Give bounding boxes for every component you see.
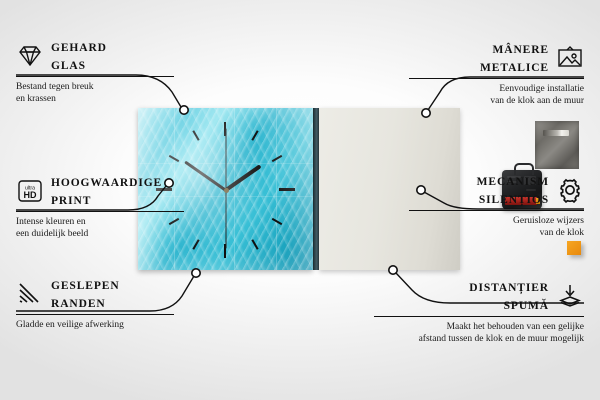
feature-desc-line: Eenvoudige installatie: [409, 83, 584, 95]
feature-desc-line: Gladde en veilige afwerking: [16, 319, 191, 331]
feature-header: DISTANȚIER SPUMĂ: [374, 278, 584, 314]
feature-geslepen-randen[interactable]: GESLEPEN RANDEN Gladde en veilige afwerk…: [16, 276, 191, 331]
feature-desc-line: een duidelijk beeld: [16, 228, 201, 240]
infographic-stage: GEHARD GLAS Bestand tegen breuk en krass…: [0, 0, 600, 400]
gear-icon: [556, 177, 584, 203]
diagonal-lines-icon: [16, 281, 44, 307]
metal-hanger-plate: [535, 121, 579, 169]
feature-desc-line: van de klok aan de muur: [409, 95, 584, 107]
feature-header: GEHARD GLAS: [16, 38, 191, 74]
feature-title: MECANISM SILENȚIOS: [477, 172, 549, 208]
clock-tick: [224, 244, 226, 258]
feature-title: GESLEPEN RANDEN: [51, 276, 120, 312]
feature-title: HOOGWAARDIGE PRINT: [51, 173, 162, 209]
feature-desc-line: Bestand tegen breuk: [16, 81, 191, 93]
clock-tick: [169, 155, 180, 162]
divider: [16, 211, 184, 212]
divider: [409, 78, 584, 79]
clock-hour-hand: [225, 164, 262, 191]
feature-desc-line: afstand tussen de klok en de muur mogeli…: [374, 333, 584, 345]
feature-title: GEHARD GLAS: [51, 38, 107, 74]
clock-tick: [272, 218, 283, 225]
feature-header: MÂNERE METALICE: [409, 40, 584, 76]
ultra-hd-icon: ultra HD: [16, 178, 44, 204]
clock-tick: [251, 130, 258, 141]
divider: [16, 76, 174, 77]
clock-tick: [192, 130, 199, 141]
divider: [409, 210, 584, 211]
feature-desc-line: Maakt het behouden van een gelijke: [374, 321, 584, 333]
feature-mecanism-silentios[interactable]: MECANISM SILENȚIOS Geruisloze wijzers va…: [409, 172, 584, 239]
feature-desc-line: Intense kleuren en: [16, 216, 201, 228]
feature-desc-line: en krassen: [16, 93, 191, 105]
foam-spacer: [567, 241, 581, 255]
clock-tick: [224, 122, 226, 136]
feature-header: ultra HD HOOGWAARDIGE PRINT: [16, 173, 201, 209]
feature-hoogwaardige-print[interactable]: ultra HD HOOGWAARDIGE PRINT Intense kleu…: [16, 173, 201, 240]
feature-header: MECANISM SILENȚIOS: [409, 172, 584, 208]
feature-header: GESLEPEN RANDEN: [16, 276, 191, 312]
clock-second-hand: [226, 191, 227, 249]
clock-tick: [272, 155, 283, 162]
feature-desc-line: van de klok: [409, 227, 584, 239]
divider: [374, 316, 584, 317]
clock-tick: [279, 188, 295, 191]
feature-desc-line: Geruisloze wijzers: [409, 215, 584, 227]
feature-title: MÂNERE METALICE: [480, 40, 549, 76]
diamond-icon: [16, 43, 44, 69]
clock-center-pin: [224, 188, 229, 193]
feature-title: DISTANȚIER SPUMĂ: [469, 278, 549, 314]
down-arrow-slab-icon: [556, 283, 584, 309]
clock-second-hand-tail: [226, 129, 227, 191]
feature-gehard-glas[interactable]: GEHARD GLAS Bestand tegen breuk en krass…: [16, 38, 191, 105]
svg-text:HD: HD: [24, 190, 37, 200]
clock-tick: [251, 239, 258, 250]
feature-manere-metalice[interactable]: MÂNERE METALICE Eenvoudige installatie v…: [409, 40, 584, 107]
divider: [16, 314, 174, 315]
clock-tick: [192, 239, 199, 250]
feature-distantier-spuma[interactable]: DISTANȚIER SPUMĂ Maakt het behouden van …: [374, 278, 584, 345]
hanger-slot: [543, 130, 569, 136]
picture-frame-hook-icon: [556, 45, 584, 71]
